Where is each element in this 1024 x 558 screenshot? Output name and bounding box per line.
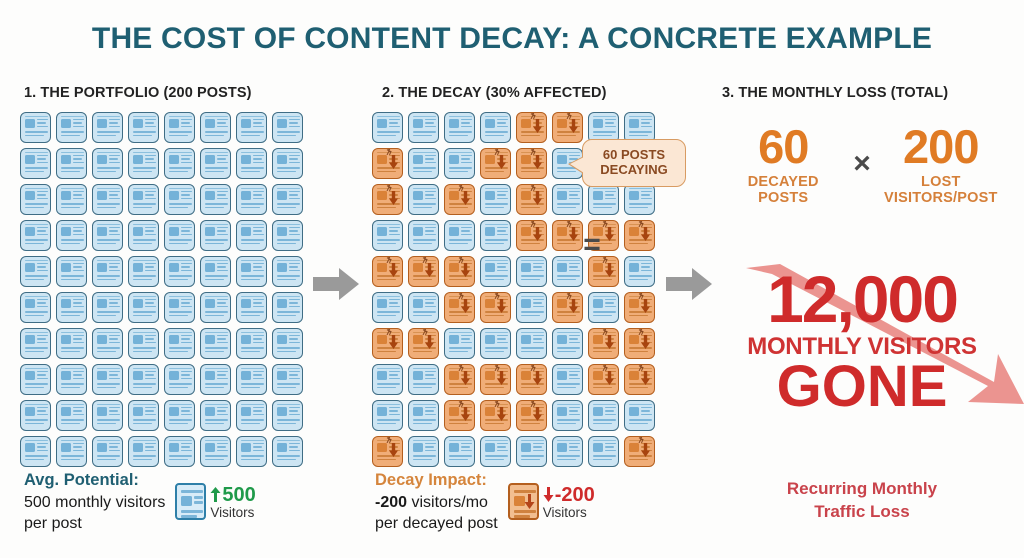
decayed-post-cell: [372, 148, 403, 179]
healthy-post-cell: [128, 328, 159, 359]
post-crack-icon: [530, 220, 539, 227]
healthy-post-cell: [128, 400, 159, 431]
healthy-post-cell: [236, 184, 267, 215]
post-crack-icon: [638, 292, 647, 299]
healthy-post-cell: [20, 364, 51, 395]
recurring-loss-line-2: Traffic Loss: [700, 501, 1024, 524]
healthy-post-cell: [372, 292, 403, 323]
avg-potential-badge-value: 500: [222, 484, 255, 506]
decay-impact-badge-value-row: -200: [543, 484, 595, 506]
healthy-post-cell: [200, 256, 231, 287]
healthy-post-cell: [20, 220, 51, 251]
decayed-post-cell: [516, 184, 547, 215]
post-decay-arrow-icon: [605, 263, 614, 277]
decayed-post-cell: [372, 184, 403, 215]
healthy-post-cell: [56, 112, 87, 143]
healthy-post-cell: [272, 220, 303, 251]
healthy-post-cell: [480, 256, 511, 287]
post-decay-arrow-icon: [641, 299, 650, 313]
healthy-post-cell: [56, 400, 87, 431]
healthy-post-cell: [56, 364, 87, 395]
decayed-post-cell: [408, 256, 439, 287]
post-crack-icon: [530, 184, 539, 191]
post-decay-arrow-icon: [497, 407, 506, 421]
avg-potential-badge-value-row: 500: [210, 484, 255, 506]
post-crack-icon: [386, 148, 395, 155]
decayed-post-cell: [480, 148, 511, 179]
post-decay-arrow-icon: [569, 299, 578, 313]
post-decay-arrow-icon: [641, 443, 650, 457]
post-crack-icon: [638, 328, 647, 335]
healthy-post-cell: [236, 364, 267, 395]
healthy-post-cell: [56, 256, 87, 287]
healthy-post-cell: [92, 184, 123, 215]
decayed-post-cell: [444, 364, 475, 395]
decayed-post-cell: [552, 112, 583, 143]
post-decay-arrow-icon: [425, 263, 434, 277]
decayed-post-cell: [480, 400, 511, 431]
step-arrow-right-icon: [313, 266, 359, 302]
healthy-post-cell: [164, 148, 195, 179]
healthy-post-cell: [200, 112, 231, 143]
healthy-post-cell: [272, 400, 303, 431]
healthy-post-cell: [272, 184, 303, 215]
decayed-post-cell: [624, 364, 655, 395]
healthy-post-cell: [56, 292, 87, 323]
post-decay-arrow-icon: [461, 371, 470, 385]
healthy-post-cell: [480, 220, 511, 251]
post-decay-arrow-icon: [641, 371, 650, 385]
healthy-post-cell: [20, 328, 51, 359]
decayed-post-cell: [516, 400, 547, 431]
healthy-post-cell: [480, 436, 511, 467]
healthy-post-cell: [92, 400, 123, 431]
healthy-post-cell: [372, 112, 403, 143]
decayed-post-cell: [444, 184, 475, 215]
decaying-callout: 60 POSTS DECAYING: [582, 139, 686, 187]
post-crack-icon: [422, 256, 431, 263]
panel-3-heading: 3. THE MONTHLY LOSS (TOTAL): [722, 85, 948, 101]
decay-impact-badge-value: -200: [555, 484, 595, 506]
post-decay-arrow-icon: [533, 191, 542, 205]
footer-recurring-loss: Recurring Monthly Traffic Loss: [700, 478, 1024, 524]
healthy-post-cell: [200, 400, 231, 431]
healthy-post-cell: [236, 328, 267, 359]
healthy-post-cell: [164, 328, 195, 359]
healthy-post-cell: [20, 256, 51, 287]
healthy-post-cell: [236, 112, 267, 143]
post-decay-arrow-icon: [389, 443, 398, 457]
post-crack-icon: [458, 400, 467, 407]
decayed-post-cell: [624, 220, 655, 251]
healthy-post-cell: [444, 112, 475, 143]
healthy-post-cell: [272, 292, 303, 323]
decayed-post-cell: [480, 292, 511, 323]
post-crack-icon: [602, 364, 611, 371]
healthy-post-cell: [200, 184, 231, 215]
healthy-post-cell: [588, 400, 619, 431]
post-crack-icon: [458, 364, 467, 371]
healthy-post-cell: [272, 328, 303, 359]
healthy-post-cell: [92, 364, 123, 395]
post-decay-arrow-icon: [641, 227, 650, 241]
lost-visitors-label-1: LOST: [881, 174, 1001, 190]
post-decay-arrow-icon: [425, 335, 434, 349]
post-crack-icon: [602, 256, 611, 263]
post-crack-icon: [530, 148, 539, 155]
healthy-post-cell: [624, 184, 655, 215]
healthy-post-cell: [164, 184, 195, 215]
healthy-post-cell: [272, 364, 303, 395]
post-crack-icon: [386, 184, 395, 191]
healthy-post-cell: [516, 256, 547, 287]
decayed-post-cell: [624, 436, 655, 467]
healthy-post-cell: [272, 112, 303, 143]
healthy-post-cell: [92, 256, 123, 287]
footer-avg-potential: Avg. Potential: 500 monthly visitors per…: [24, 470, 334, 534]
portfolio-post-grid: [20, 112, 303, 469]
healthy-post-cell: [516, 328, 547, 359]
healthy-post-cell: [164, 400, 195, 431]
post-decay-arrow-icon: [605, 227, 614, 241]
callout-tail: [570, 157, 584, 173]
healthy-post-cell: [164, 364, 195, 395]
multiplication-operator: ×: [853, 147, 871, 181]
healthy-post-cell: [408, 148, 439, 179]
post-decay-arrow-icon: [533, 155, 542, 169]
decayed-post-cell: [624, 292, 655, 323]
healthy-post-cell: [92, 112, 123, 143]
healthy-post-cell: [92, 436, 123, 467]
equation-term-decayed-posts: 60 DECAYED POSTS: [723, 125, 843, 206]
post-crack-icon: [494, 364, 503, 371]
lost-visitors-value: 200: [881, 125, 1001, 170]
avg-potential-badge: 500 Visitors: [175, 483, 255, 520]
page-title: THE COST OF CONTENT DECAY: A CONCRETE EX…: [0, 22, 1024, 56]
total-loss-gone: GONE: [700, 359, 1024, 414]
decayed-post-cell: [516, 220, 547, 251]
post-decay-arrow-icon: [533, 371, 542, 385]
avg-potential-line-1: 500 monthly visitors: [24, 492, 165, 513]
post-crack-icon: [638, 436, 647, 443]
avg-potential-text: Avg. Potential: 500 monthly visitors per…: [24, 470, 165, 534]
post-crack-icon: [566, 292, 575, 299]
avg-potential-badge-text: 500 Visitors: [210, 484, 255, 521]
healthy-post-cell: [236, 256, 267, 287]
post-crack-icon: [638, 364, 647, 371]
healthy-post-cell: [552, 364, 583, 395]
healthy-post-cell: [624, 256, 655, 287]
decayed-post-cell: [588, 256, 619, 287]
post-decay-arrow-icon: [389, 155, 398, 169]
post-decay-arrow-icon: [497, 155, 506, 169]
post-decay-arrow-icon: [389, 335, 398, 349]
healthy-post-cell: [200, 364, 231, 395]
decayed-post-cell: [372, 256, 403, 287]
post-crack-icon: [494, 292, 503, 299]
decayed-post-cell: [444, 256, 475, 287]
post-decay-arrow-icon: [461, 263, 470, 277]
callout-line-2: DECAYING: [600, 163, 667, 178]
healthy-post-cell: [56, 328, 87, 359]
decayed-post-cell: [624, 328, 655, 359]
recurring-loss-text: Recurring Monthly Traffic Loss: [700, 478, 1024, 524]
decayed-post-cell: [444, 292, 475, 323]
healthy-post-cell: [236, 292, 267, 323]
healthy-post-cell: [272, 256, 303, 287]
post-crack-icon: [638, 220, 647, 227]
avg-potential-badge-caption: Visitors: [210, 506, 255, 521]
healthy-post-cell: [164, 220, 195, 251]
post-crack-icon: [422, 328, 431, 335]
post-crack-icon: [458, 184, 467, 191]
healthy-post-cell: [236, 220, 267, 251]
healthy-post-cell: [56, 436, 87, 467]
avg-potential-line-2: per post: [24, 513, 165, 534]
healthy-post-cell: [624, 400, 655, 431]
post-decay-arrow-icon: [461, 407, 470, 421]
decay-impact-unit: visitors/mo: [407, 494, 488, 511]
post-crack-icon: [566, 112, 575, 119]
post-decay-arrow-icon: [461, 191, 470, 205]
arrow-up-icon: [210, 487, 221, 502]
decay-impact-heading: Decay Impact:: [375, 470, 498, 492]
panel-2-heading: 2. THE DECAY (30% AFFECTED): [382, 85, 607, 101]
decayed-post-document-icon: [508, 483, 539, 520]
healthy-post-cell: [128, 148, 159, 179]
post-crack-icon: [458, 292, 467, 299]
healthy-post-cell: [408, 184, 439, 215]
equation-term-lost-visitors: 200 LOST VISITORS/POST: [881, 125, 1001, 206]
healthy-post-cell: [272, 436, 303, 467]
decay-impact-delta: -200: [375, 494, 407, 511]
panel-1-heading: 1. THE PORTFOLIO (200 POSTS): [24, 85, 252, 101]
healthy-post-cell: [56, 184, 87, 215]
lost-visitors-label-2: VISITORS/POST: [881, 190, 1001, 206]
healthy-post-cell: [20, 400, 51, 431]
post-decay-arrow-icon: [389, 263, 398, 277]
healthy-post-cell: [408, 292, 439, 323]
healthy-post-cell: [200, 148, 231, 179]
healthy-post-cell: [20, 112, 51, 143]
healthy-post-cell: [92, 328, 123, 359]
post-crack-icon: [530, 112, 539, 119]
healthy-post-cell: [200, 220, 231, 251]
decay-impact-badge-caption: Visitors: [543, 506, 595, 521]
healthy-post-cell: [372, 220, 403, 251]
decayed-post-cell: [516, 148, 547, 179]
healthy-post-cell: [20, 436, 51, 467]
healthy-post-cell: [128, 184, 159, 215]
decayed-post-cell: [444, 400, 475, 431]
callout-line-1: 60 POSTS: [603, 148, 665, 163]
decayed-post-cell: [480, 364, 511, 395]
decayed-post-cell: [408, 328, 439, 359]
post-decay-arrow-icon: [569, 227, 578, 241]
decay-impact-line-2: per decayed post: [375, 513, 498, 534]
post-decay-arrow-icon: [497, 299, 506, 313]
post-crack-icon: [530, 364, 539, 371]
healthy-post-cell: [516, 292, 547, 323]
healthy-post-cell: [480, 184, 511, 215]
post-crack-icon: [602, 328, 611, 335]
post-decay-arrow-icon: [605, 335, 614, 349]
healthy-post-cell: [200, 328, 231, 359]
recurring-loss-line-1: Recurring Monthly: [700, 478, 1024, 501]
decayed-post-cell: [588, 328, 619, 359]
decayed-post-cell: [372, 436, 403, 467]
healthy-post-cell: [372, 400, 403, 431]
decay-impact-text: Decay Impact: -200 visitors/mo per decay…: [375, 470, 498, 534]
healthy-post-cell: [20, 292, 51, 323]
healthy-post-cell: [372, 364, 403, 395]
healthy-post-cell: [588, 436, 619, 467]
arrow-down-icon-2: [543, 487, 554, 502]
healthy-post-cell: [236, 436, 267, 467]
loss-equation: 60 DECAYED POSTS × 200 LOST VISITORS/POS…: [700, 125, 1024, 206]
healthy-post-cell: [444, 220, 475, 251]
healthy-post-cell: [128, 364, 159, 395]
post-crack-icon: [386, 256, 395, 263]
healthy-post-cell: [236, 148, 267, 179]
healthy-post-cell: [56, 148, 87, 179]
healthy-post-cell: [408, 436, 439, 467]
post-document-icon: [175, 483, 206, 520]
healthy-post-cell: [552, 184, 583, 215]
post-decay-arrow-icon: [461, 299, 470, 313]
healthy-post-cell: [272, 148, 303, 179]
healthy-post-cell: [408, 112, 439, 143]
infographic-canvas: THE COST OF CONTENT DECAY: A CONCRETE EX…: [0, 0, 1024, 558]
healthy-post-cell: [516, 436, 547, 467]
decayed-posts-label: DECAYED POSTS: [723, 174, 843, 206]
decayed-post-cell: [552, 220, 583, 251]
healthy-post-cell: [164, 292, 195, 323]
post-decay-arrow-icon: [533, 407, 542, 421]
healthy-post-cell: [552, 436, 583, 467]
total-loss-block: 12,000 MONTHLY VISITORS GONE: [700, 268, 1024, 414]
decayed-post-cell: [552, 292, 583, 323]
post-decay-arrow-icon: [533, 227, 542, 241]
healthy-post-cell: [552, 328, 583, 359]
post-crack-icon: [494, 400, 503, 407]
arrow-down-icon: [524, 494, 535, 509]
avg-potential-heading: Avg. Potential:: [24, 470, 165, 492]
post-crack-icon: [386, 328, 395, 335]
healthy-post-cell: [200, 292, 231, 323]
decayed-posts-value: 60: [723, 125, 843, 170]
healthy-post-cell: [20, 148, 51, 179]
post-crack-icon: [530, 400, 539, 407]
total-loss-number: 12,000: [700, 268, 1024, 331]
decayed-post-cell: [588, 364, 619, 395]
healthy-post-cell: [164, 256, 195, 287]
post-crack-icon: [566, 220, 575, 227]
healthy-post-cell: [92, 292, 123, 323]
healthy-post-cell: [480, 328, 511, 359]
healthy-post-cell: [236, 400, 267, 431]
decay-impact-badge-text: -200 Visitors: [543, 484, 595, 521]
decay-impact-line-1: -200 visitors/mo: [375, 492, 498, 513]
healthy-post-cell: [164, 436, 195, 467]
healthy-post-cell: [128, 256, 159, 287]
healthy-post-cell: [408, 220, 439, 251]
post-crack-icon: [386, 436, 395, 443]
post-decay-arrow-icon: [569, 119, 578, 133]
healthy-post-cell: [20, 184, 51, 215]
lost-visitors-label: LOST VISITORS/POST: [881, 174, 1001, 206]
healthy-post-cell: [444, 436, 475, 467]
decayed-posts-label-2: POSTS: [723, 190, 843, 206]
healthy-post-cell: [552, 256, 583, 287]
decayed-post-cell: [516, 112, 547, 143]
healthy-post-cell: [164, 112, 195, 143]
healthy-post-cell: [588, 292, 619, 323]
healthy-post-cell: [128, 292, 159, 323]
post-decay-arrow-icon: [389, 191, 398, 205]
post-decay-arrow-icon: [605, 371, 614, 385]
healthy-post-cell: [128, 436, 159, 467]
healthy-post-cell: [56, 220, 87, 251]
decayed-posts-label-1: DECAYED: [723, 174, 843, 190]
decayed-post-cell: [372, 328, 403, 359]
healthy-post-cell: [200, 436, 231, 467]
healthy-post-cell: [128, 220, 159, 251]
post-crack-icon: [602, 220, 611, 227]
post-decay-arrow-icon: [533, 119, 542, 133]
healthy-post-cell: [128, 112, 159, 143]
post-crack-icon: [458, 256, 467, 263]
healthy-post-cell: [408, 364, 439, 395]
post-decay-arrow-icon: [641, 335, 650, 349]
healthy-post-cell: [92, 220, 123, 251]
healthy-post-cell: [408, 400, 439, 431]
footer-decay-impact: Decay Impact: -200 visitors/mo per decay…: [375, 470, 685, 534]
healthy-post-cell: [588, 184, 619, 215]
decayed-post-cell: [516, 364, 547, 395]
healthy-post-cell: [552, 400, 583, 431]
healthy-post-cell: [92, 148, 123, 179]
post-crack-icon: [494, 148, 503, 155]
decayed-post-cell: [588, 220, 619, 251]
decay-impact-badge: -200 Visitors: [508, 483, 595, 520]
healthy-post-cell: [444, 148, 475, 179]
healthy-post-cell: [480, 112, 511, 143]
healthy-post-cell: [444, 328, 475, 359]
post-decay-arrow-icon: [497, 371, 506, 385]
